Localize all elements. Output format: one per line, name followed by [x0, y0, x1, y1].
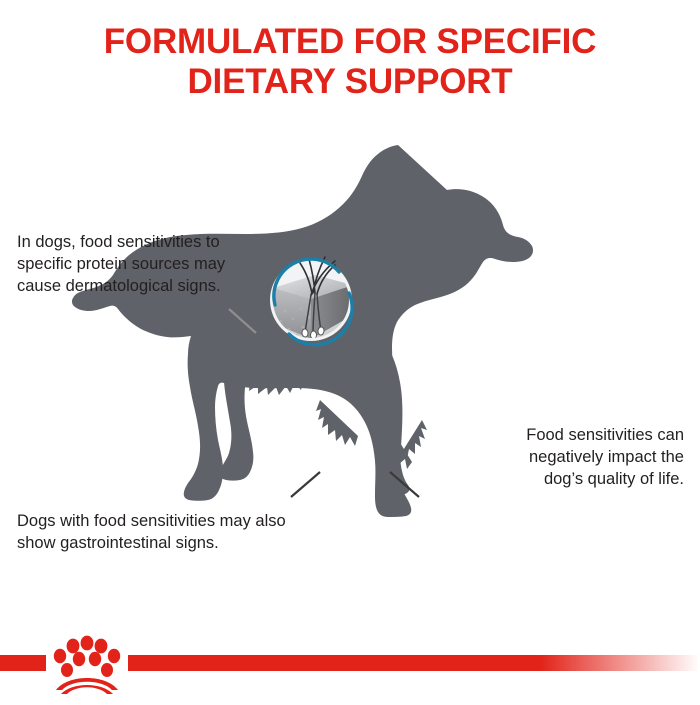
callout-gi-line-2: show gastrointestinal signs. — [17, 532, 377, 554]
brand-bar-left-segment — [0, 655, 46, 671]
royal-canin-crown-logo — [48, 632, 126, 694]
callout-skin-line-1: In dogs, food sensitivities to — [17, 231, 287, 253]
brand-bar-right-segment — [128, 655, 700, 671]
infographic-canvas: FORMULATED FOR SPECIFIC DIETARY SUPPORT — [0, 0, 700, 700]
callout-gi-line-1: Dogs with food sensitivities may also — [17, 510, 377, 532]
callout-gastrointestinal: Dogs with food sensitivities may also sh… — [17, 510, 377, 554]
callout-skin-line-3: cause dermatological signs. — [17, 275, 287, 297]
callout-quality-line-3: dog’s quality of life. — [430, 468, 684, 490]
callout-quality-of-life: Food sensitivities can negatively impact… — [430, 424, 684, 490]
callout-quality-line-2: negatively impact the — [430, 446, 684, 468]
callout-skin: In dogs, food sensitivities to specific … — [17, 231, 287, 297]
callout-skin-line-2: specific protein sources may — [17, 253, 287, 275]
crown-icon — [54, 636, 120, 694]
callout-quality-line-1: Food sensitivities can — [430, 424, 684, 446]
